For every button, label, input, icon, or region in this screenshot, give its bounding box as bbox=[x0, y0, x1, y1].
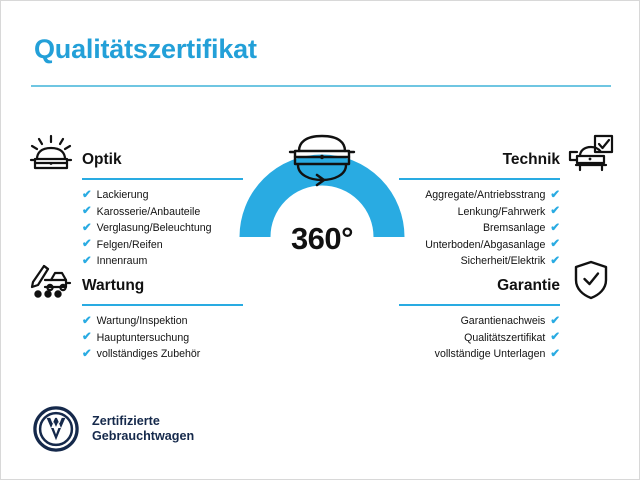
section-garantie-title: Garantie bbox=[497, 277, 560, 295]
section-wartung-title: Wartung bbox=[82, 277, 144, 295]
list-item: Lenkung/Fahrwerk✔ bbox=[399, 204, 560, 221]
shield-check-icon bbox=[565, 258, 617, 302]
list-item-label: Wartung/Inspektion bbox=[97, 313, 188, 330]
list-item: ✔vollständiges Zubehör bbox=[82, 346, 243, 363]
section-optik-divider bbox=[82, 178, 243, 180]
list-item: ✔Verglasung/Beleuchtung bbox=[82, 220, 243, 237]
page-title: Qualitätszertifikat bbox=[34, 34, 257, 65]
list-item: vollständige Unterlagen✔ bbox=[399, 346, 560, 363]
list-item-label: Aggregate/Antriebsstrang bbox=[425, 187, 545, 204]
list-item: ✔Hauptuntersuchung bbox=[82, 330, 243, 347]
vw-lockup-line1: Zertifizierte bbox=[92, 414, 194, 430]
list-item-label: Unterboden/Abgasanlage bbox=[425, 237, 545, 254]
section-optik-title: Optik bbox=[82, 151, 122, 169]
list-item-label: vollständige Unterlagen bbox=[435, 346, 546, 363]
check-icon: ✔ bbox=[82, 190, 92, 202]
check-icon: ✔ bbox=[82, 332, 92, 344]
check-icon: ✔ bbox=[82, 206, 92, 218]
vw-certified-lockup: Zertifizierte Gebrauchtwagen bbox=[33, 406, 194, 452]
car-shine-icon bbox=[25, 132, 77, 176]
section-garantie-list: Garantienachweis✔ Qualitätszertifikat✔ v… bbox=[399, 304, 617, 363]
car-service-log-icon bbox=[25, 258, 77, 302]
badge-center-label: 360° bbox=[229, 221, 415, 257]
list-item-label: Qualitätszertifikat bbox=[464, 330, 545, 347]
section-garantie: Garantie Garantienachweis✔ Qualitätszert… bbox=[399, 258, 617, 363]
list-item: Garantienachweis✔ bbox=[399, 313, 560, 330]
section-technik-header: Technik bbox=[399, 132, 617, 178]
check-icon: ✔ bbox=[550, 349, 560, 361]
list-item: Aggregate/Antriebsstrang✔ bbox=[399, 187, 560, 204]
check-icon: ✔ bbox=[82, 223, 92, 235]
list-item-label: vollständiges Zubehör bbox=[97, 346, 201, 363]
list-item-label: Bremsanlage bbox=[483, 220, 545, 237]
section-wartung: Wartung ✔Wartung/Inspektion ✔Hauptunters… bbox=[25, 258, 243, 363]
list-item-label: Lenkung/Fahrwerk bbox=[458, 204, 546, 221]
car-lift-check-icon bbox=[565, 132, 617, 176]
badge-arc-graphic: Gebrauchtwagen-Check bbox=[229, 125, 415, 315]
vw-roundel-icon bbox=[33, 406, 79, 452]
check-icon: ✔ bbox=[550, 239, 560, 251]
section-optik-header: Optik bbox=[25, 132, 243, 178]
section-optik-list: ✔Lackierung ✔Karosserie/Anbauteile ✔Verg… bbox=[25, 178, 243, 270]
section-technik-list: Aggregate/Antriebsstrang✔ Lenkung/Fahrwe… bbox=[399, 178, 617, 270]
vw-lockup-text: Zertifizierte Gebrauchtwagen bbox=[92, 414, 194, 445]
list-item: Qualitätszertifikat✔ bbox=[399, 330, 560, 347]
list-item: ✔Wartung/Inspektion bbox=[82, 313, 243, 330]
section-wartung-list: ✔Wartung/Inspektion ✔Hauptuntersuchung ✔… bbox=[25, 304, 243, 363]
list-item: ✔Felgen/Reifen bbox=[82, 237, 243, 254]
check-icon: ✔ bbox=[550, 223, 560, 235]
list-item: ✔Karosserie/Anbauteile bbox=[82, 204, 243, 221]
list-item-label: Verglasung/Beleuchtung bbox=[97, 220, 212, 237]
check-icon: ✔ bbox=[82, 316, 92, 328]
check-icon: ✔ bbox=[550, 332, 560, 344]
section-wartung-divider bbox=[82, 304, 243, 306]
section-garantie-header: Garantie bbox=[399, 258, 617, 304]
list-item: ✔Lackierung bbox=[82, 187, 243, 204]
list-item-label: Garantienachweis bbox=[461, 313, 546, 330]
header-divider bbox=[31, 85, 611, 87]
section-technik-divider bbox=[399, 178, 560, 180]
vw-lockup-line2: Gebrauchtwagen bbox=[92, 429, 194, 445]
section-technik-title: Technik bbox=[503, 151, 560, 169]
check-icon: ✔ bbox=[550, 206, 560, 218]
list-item-label: Hauptuntersuchung bbox=[97, 330, 189, 347]
check-icon: ✔ bbox=[82, 349, 92, 361]
list-item-label: Felgen/Reifen bbox=[97, 237, 163, 254]
check-icon: ✔ bbox=[82, 239, 92, 251]
check-icon: ✔ bbox=[550, 190, 560, 202]
list-item: Unterboden/Abgasanlage✔ bbox=[399, 237, 560, 254]
section-wartung-header: Wartung bbox=[25, 258, 243, 304]
list-item-label: Karosserie/Anbauteile bbox=[97, 204, 201, 221]
section-garantie-divider bbox=[399, 304, 560, 306]
check-icon: ✔ bbox=[550, 316, 560, 328]
360-check-badge: Gebrauchtwagen-Check 360° bbox=[229, 125, 415, 315]
list-item: Bremsanlage✔ bbox=[399, 220, 560, 237]
list-item-label: Lackierung bbox=[97, 187, 149, 204]
section-technik: Technik Aggregate/Antriebsstrang✔ Lenkun… bbox=[399, 132, 617, 270]
quality-certificate-page: Qualitätszertifikat Optik bbox=[0, 0, 640, 480]
section-optik: Optik ✔Lackierung ✔Karosserie/Anbauteile… bbox=[25, 132, 243, 270]
